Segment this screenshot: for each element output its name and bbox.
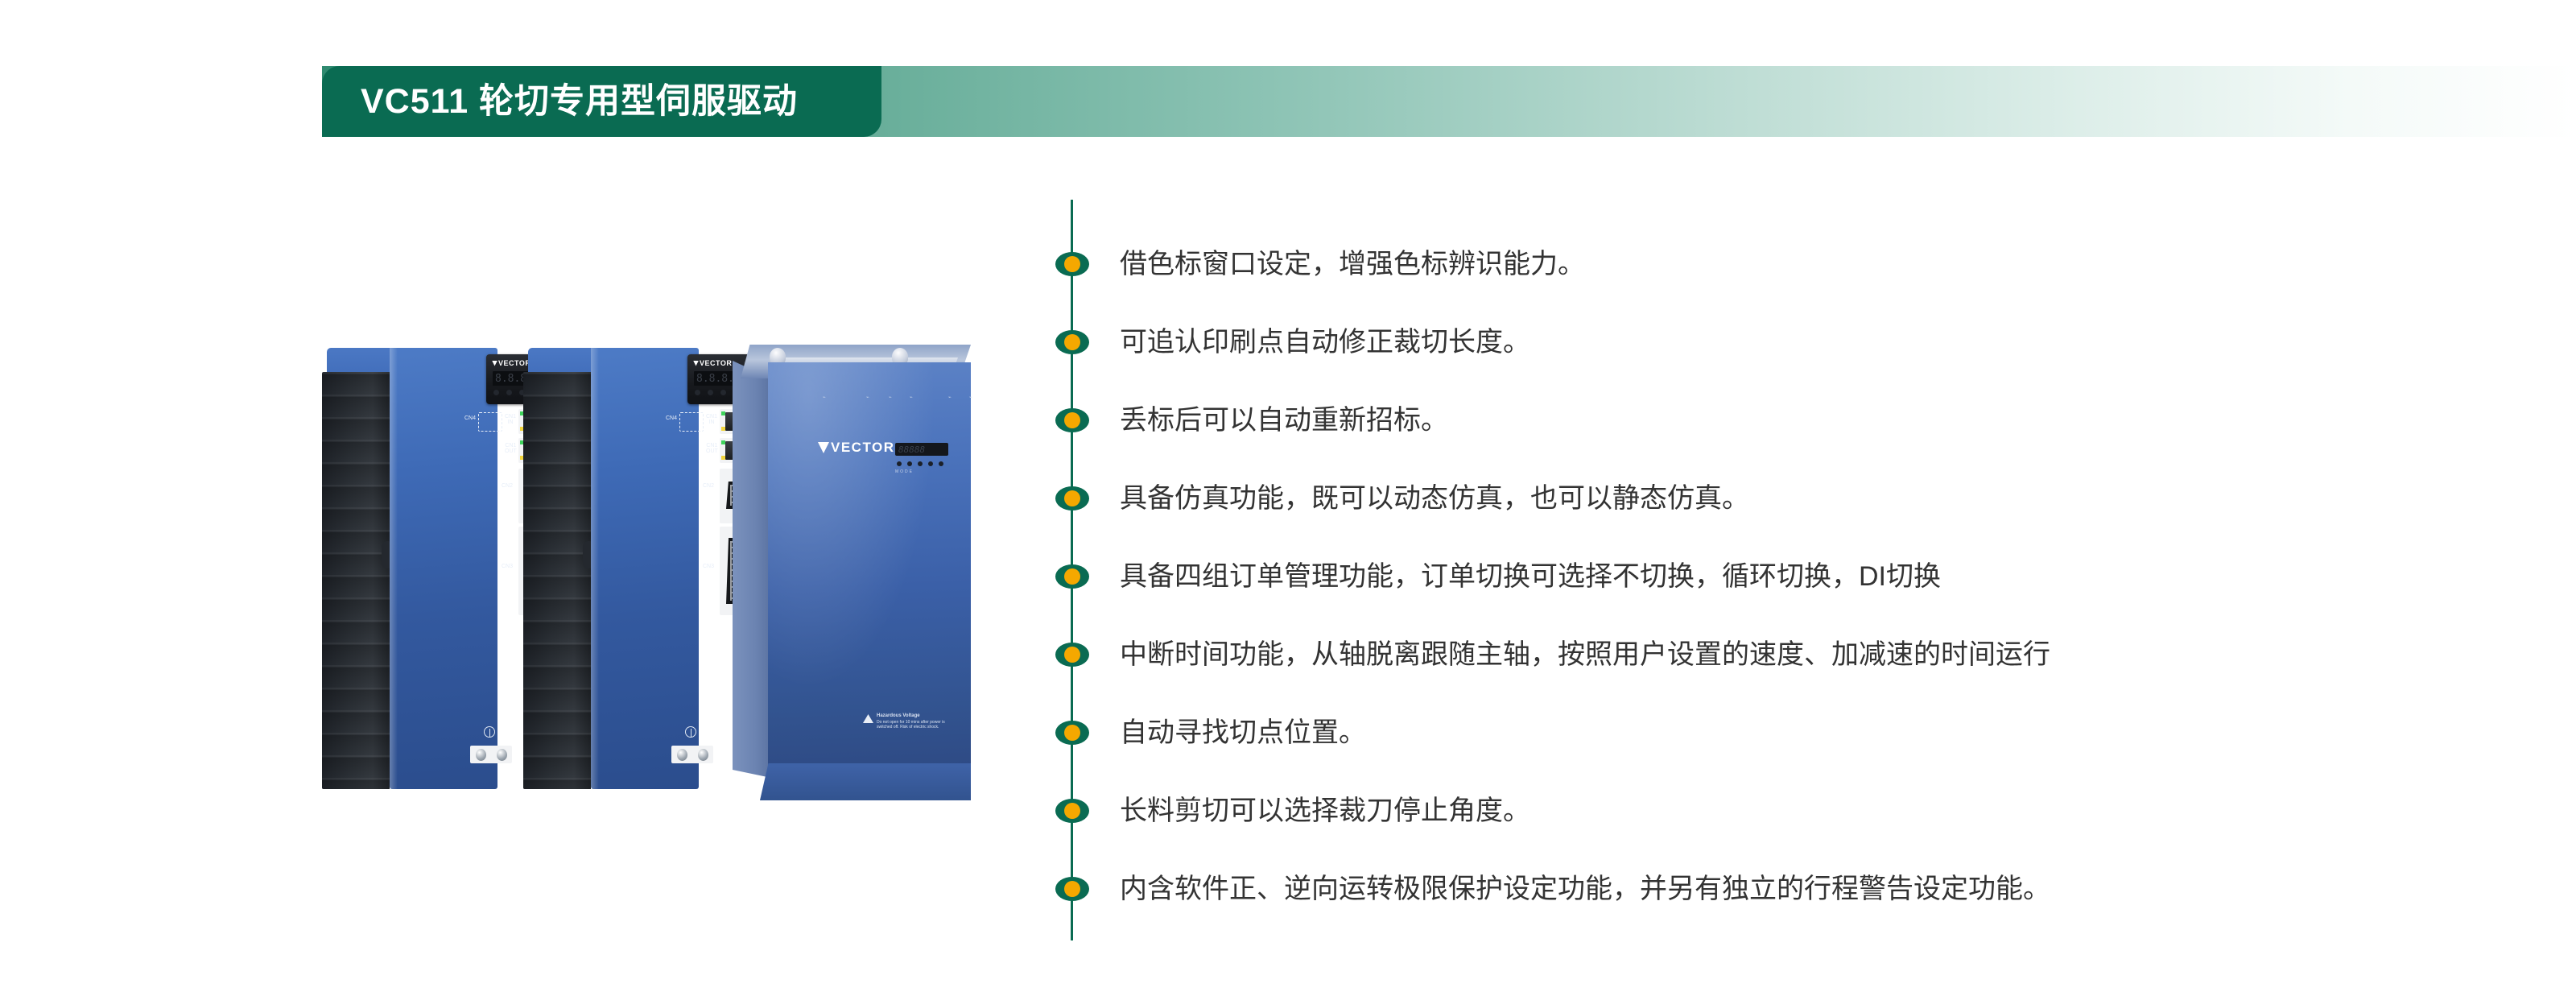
timeline-marker-icon [1055, 330, 1089, 354]
label-cn4: CN4 [464, 415, 476, 421]
servo-cabinet-unit: ⌁ ⌁ ⌁ ⌁ ⌁ ⌁ VECTOR 88888 [733, 338, 978, 802]
servo-drive-unit-2: VECTOR 8.8.8.8.8. [523, 330, 707, 797]
cabinet-screw-icon: ⌁ [910, 395, 913, 400]
feature-item-1: 借色标窗口设定，增强色标辨识能力。 [1055, 247, 1585, 281]
ground-symbol-icon [685, 726, 696, 738]
vector-v-icon [492, 361, 497, 366]
cabinet-key [897, 461, 902, 466]
timeline-marker-dot [1064, 725, 1080, 741]
keypad-brand-text: VECTOR [700, 359, 732, 367]
keypad-button [720, 390, 726, 395]
feature-timeline: 借色标窗口设定，增强色标辨识能力。 可追认印刷点自动修正裁切长度。 丢标后可以自… [1071, 200, 2520, 949]
label-cn2: CN2 [703, 483, 714, 489]
cabinet-screw-icon: ⌁ [969, 395, 972, 400]
timeline-marker-dot [1064, 256, 1080, 272]
product-spec-page: VC511 轮切专用型伺服驱动 VECTOR 8.8.8.8.8. [0, 0, 2576, 992]
warning-title: Hazardous Voltage [877, 713, 953, 720]
timeline-marker-icon [1055, 408, 1089, 432]
cabinet-brand-logo: VECTOR [818, 440, 895, 456]
banner-title-block: VC511 轮切专用型伺服驱动 [322, 66, 881, 137]
label-cn1-in: CN1 IN [505, 414, 516, 426]
warning-body: Do not open for 10 mins after power is s… [877, 720, 945, 730]
label-cn4: CN4 [666, 415, 677, 421]
timeline-marker-dot [1064, 647, 1080, 663]
keypad-button [695, 390, 700, 395]
feature-item-5: 具备四组订单管理功能，订单切换可选择不切换，循环切换，DI切换 [1055, 560, 1941, 593]
feature-item-4: 具备仿真功能，既可以动态仿真，也可以静态仿真。 [1055, 482, 1749, 515]
hazard-warning-label: Hazardous Voltage Do not open for 10 min… [863, 713, 953, 730]
cabinet-base-plinth [760, 763, 971, 800]
label-cn1-out: CN1 OUT [505, 443, 517, 455]
cabinet-key [939, 461, 943, 466]
cabinet-key [928, 461, 933, 466]
servo-drive-unit-1: VECTOR 8.8.8.8.8. [322, 330, 506, 797]
timeline-marker-icon [1055, 643, 1089, 667]
drive-heatsink [322, 372, 390, 789]
timeline-marker-icon [1055, 252, 1089, 276]
cn4-slot-outline [679, 412, 704, 432]
keypad-button [708, 390, 713, 395]
cabinet-screw-icon: ⌁ [823, 395, 826, 400]
label-cn3: CN3 [703, 564, 714, 569]
warning-text-block: Hazardous Voltage Do not open for 10 min… [877, 713, 953, 730]
cabinet-led-display: 88888 [895, 443, 948, 456]
page-title: VC511 轮切专用型伺服驱动 [322, 85, 798, 119]
terminal-screw [476, 749, 486, 761]
vector-v-icon [818, 442, 829, 453]
feature-text: 内含软件正、逆向运转极限保护设定功能，并另有独立的行程警告设定功能。 [1120, 873, 2050, 906]
label-cn3: CN3 [502, 564, 513, 569]
cabinet-control-panel: 88888 MODE [895, 443, 953, 474]
timeline-marker-icon [1055, 564, 1089, 589]
feature-item-3: 丢标后可以自动重新招标。 [1055, 403, 1448, 437]
power-terminal-block [470, 746, 512, 763]
label-cn1-out: CN1 OUT [706, 443, 718, 455]
label-cn1-in: CN1 IN [706, 414, 717, 426]
feature-item-7: 自动寻找切点位置。 [1055, 716, 1366, 750]
feature-text: 长料剪切可以选择裁刀停止角度。 [1120, 795, 1530, 828]
timeline-marker-icon [1055, 721, 1089, 745]
cabinet-key [907, 461, 912, 466]
cabinet-screw-icon: ⌁ [889, 395, 892, 400]
feature-text: 可追认印刷点自动修正裁切长度。 [1120, 326, 1530, 359]
led-green-icon [721, 411, 725, 415]
timeline-marker-icon [1055, 799, 1089, 823]
cn4-slot-outline [478, 412, 502, 432]
cabinet-digits: 88888 [898, 444, 925, 455]
timeline-marker-dot [1064, 334, 1080, 350]
feature-item-2: 可追认印刷点自动修正裁切长度。 [1055, 325, 1530, 359]
feature-text: 中断时间功能，从轴脱离跟随主轴，按照用户设置的速度、加减速的时间运行 [1120, 639, 2050, 672]
feature-text: 具备仿真功能，既可以动态仿真，也可以静态仿真。 [1120, 482, 1749, 515]
timeline-marker-dot [1064, 881, 1080, 897]
power-terminal-block [671, 746, 713, 763]
vector-v-icon [693, 361, 699, 366]
feature-text: 具备四组订单管理功能，订单切换可选择不切换，循环切换，DI切换 [1120, 560, 1941, 593]
cabinet-front-face: ⌁ ⌁ ⌁ ⌁ ⌁ ⌁ VECTOR 88888 [768, 362, 971, 771]
page-header-banner: VC511 轮切专用型伺服驱动 [322, 66, 2576, 137]
drive-heatsink [523, 372, 591, 789]
feature-text: 自动寻找切点位置。 [1120, 717, 1366, 750]
timeline-marker-icon [1055, 877, 1089, 901]
timeline-marker-icon [1055, 486, 1089, 510]
led-green-icon [721, 440, 725, 444]
led-yellow-icon [721, 427, 725, 431]
product-image-group: VECTOR 8.8.8.8.8. [322, 330, 982, 805]
cabinet-screw-row: ⌁ ⌁ ⌁ ⌁ ⌁ ⌁ [815, 395, 1000, 407]
keypad-brand-logo: VECTOR [693, 359, 732, 367]
cabinet-side-panel [733, 361, 771, 778]
timeline-marker-dot [1064, 412, 1080, 428]
label-cn2: CN2 [502, 483, 513, 489]
timeline-marker-dot [1064, 803, 1080, 819]
cabinet-key-label: MODE [895, 469, 953, 474]
feature-item-9: 内含软件正、逆向运转极限保护设定功能，并另有独立的行程警告设定功能。 [1055, 872, 2050, 906]
ground-symbol-icon [484, 726, 495, 738]
feature-item-6: 中断时间功能，从轴脱离跟随主轴，按照用户设置的速度、加减速的时间运行 [1055, 638, 2050, 672]
feature-text: 借色标窗口设定，增强色标辨识能力。 [1120, 248, 1585, 281]
timeline-marker-dot [1064, 568, 1080, 585]
cabinet-brand-text: VECTOR [831, 440, 895, 456]
terminal-screw [698, 749, 708, 761]
feature-item-8: 长料剪切可以选择裁刀停止角度。 [1055, 794, 1530, 828]
keypad-button [506, 390, 512, 395]
cabinet-key [918, 461, 923, 466]
drive-front-body: VECTOR 8.8.8.8.8. [591, 348, 699, 789]
drive-front-body: VECTOR 8.8.8.8.8. [390, 348, 497, 789]
timeline-marker-dot [1064, 490, 1080, 506]
cabinet-screw-icon: ⌁ [866, 395, 869, 400]
led-yellow-icon [721, 456, 725, 460]
terminal-screw [677, 749, 687, 761]
cabinet-key-row [895, 461, 953, 466]
terminal-screw [497, 749, 507, 761]
keypad-button [493, 390, 499, 395]
cabinet-screw-icon: ⌁ [948, 395, 952, 400]
feature-text: 丢标后可以自动重新招标。 [1120, 404, 1448, 437]
warning-triangle-icon [863, 714, 873, 723]
